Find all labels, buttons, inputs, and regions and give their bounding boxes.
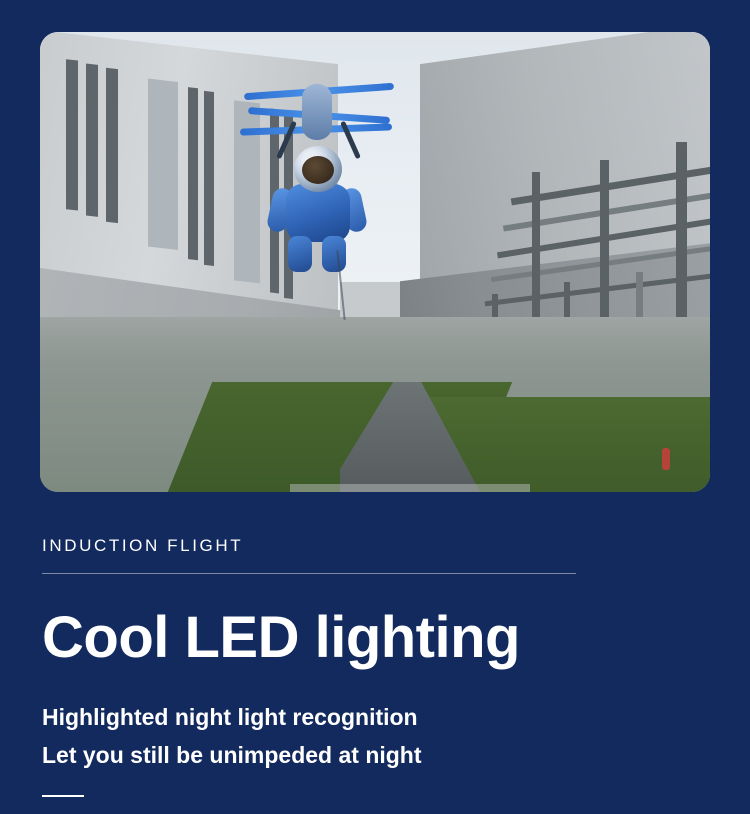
kerb xyxy=(290,484,530,492)
promo-page: INDUCTION FLIGHT Cool LED lighting Highl… xyxy=(0,0,750,814)
toy-visor xyxy=(302,156,334,184)
divider-rule xyxy=(42,573,576,574)
toy-leg-left xyxy=(288,236,312,272)
hero-image xyxy=(40,32,710,492)
rotor-hub xyxy=(302,84,332,140)
toy-body xyxy=(286,184,350,242)
bottom-accent-dash xyxy=(42,795,84,797)
hero-photo-scene xyxy=(40,32,710,492)
flying-astronaut-toy xyxy=(236,60,406,260)
fire-hydrant xyxy=(662,448,670,470)
toy-leg-right xyxy=(322,236,346,272)
eyebrow-label: INDUCTION FLIGHT xyxy=(42,536,243,556)
subtitle-line-2: Let you still be unimpeded at night xyxy=(42,742,422,769)
subtitle-line-1: Highlighted night light recognition xyxy=(42,704,418,731)
page-title: Cool LED lighting xyxy=(42,608,520,669)
